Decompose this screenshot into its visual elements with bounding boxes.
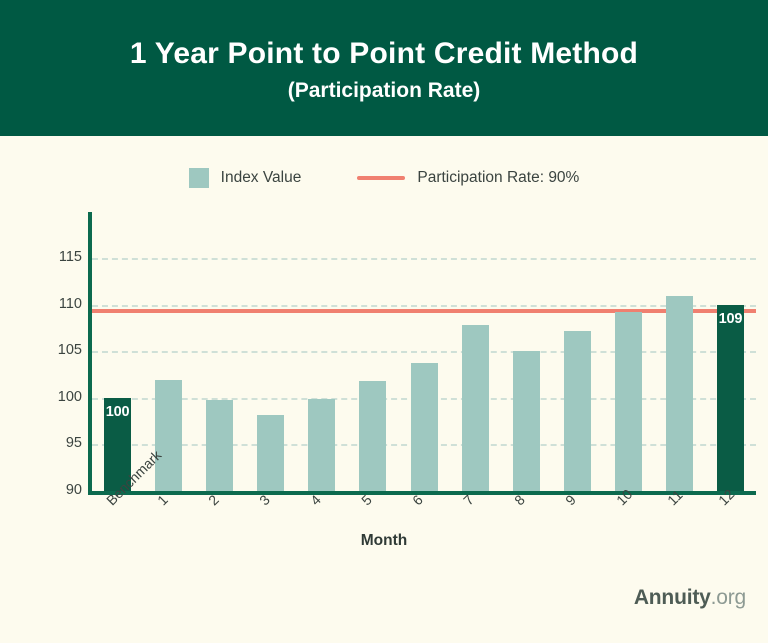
bar[interactable] — [155, 380, 182, 491]
bar-highlighted[interactable]: 109 — [717, 305, 744, 491]
y-axis-tick-label: 115 — [42, 249, 82, 265]
bar-series: 100109 — [92, 212, 756, 491]
y-axis-tick-label: 95 — [42, 435, 82, 451]
bar[interactable] — [615, 312, 642, 491]
y-axis-tick-label: 90 — [42, 482, 82, 498]
bar[interactable] — [257, 415, 284, 491]
y-axis-tick-label: 100 — [42, 389, 82, 405]
plot-area: 9095100105110115 100109 Benchmark1234567… — [0, 0, 768, 643]
logo-brand: Annuity — [634, 586, 711, 609]
annuity-org-logo: Annuity.org — [634, 586, 746, 610]
bar-value-label: 109 — [717, 311, 744, 327]
logo-tld: .org — [711, 586, 746, 609]
x-axis-line — [88, 491, 756, 495]
bar[interactable] — [308, 399, 335, 491]
bar[interactable] — [206, 400, 233, 491]
y-axis-tick-label: 110 — [42, 296, 82, 312]
bar[interactable] — [462, 325, 489, 491]
x-axis-title: Month — [0, 532, 768, 550]
y-axis-tick-label: 105 — [42, 342, 82, 358]
bar[interactable] — [411, 363, 438, 491]
bar[interactable] — [564, 331, 591, 491]
bar[interactable] — [666, 296, 693, 491]
bar-value-label: 100 — [104, 404, 131, 420]
bar[interactable] — [513, 351, 540, 491]
bar[interactable] — [359, 381, 386, 491]
chart-page: 1 Year Point to Point Credit Method (Par… — [0, 0, 768, 643]
